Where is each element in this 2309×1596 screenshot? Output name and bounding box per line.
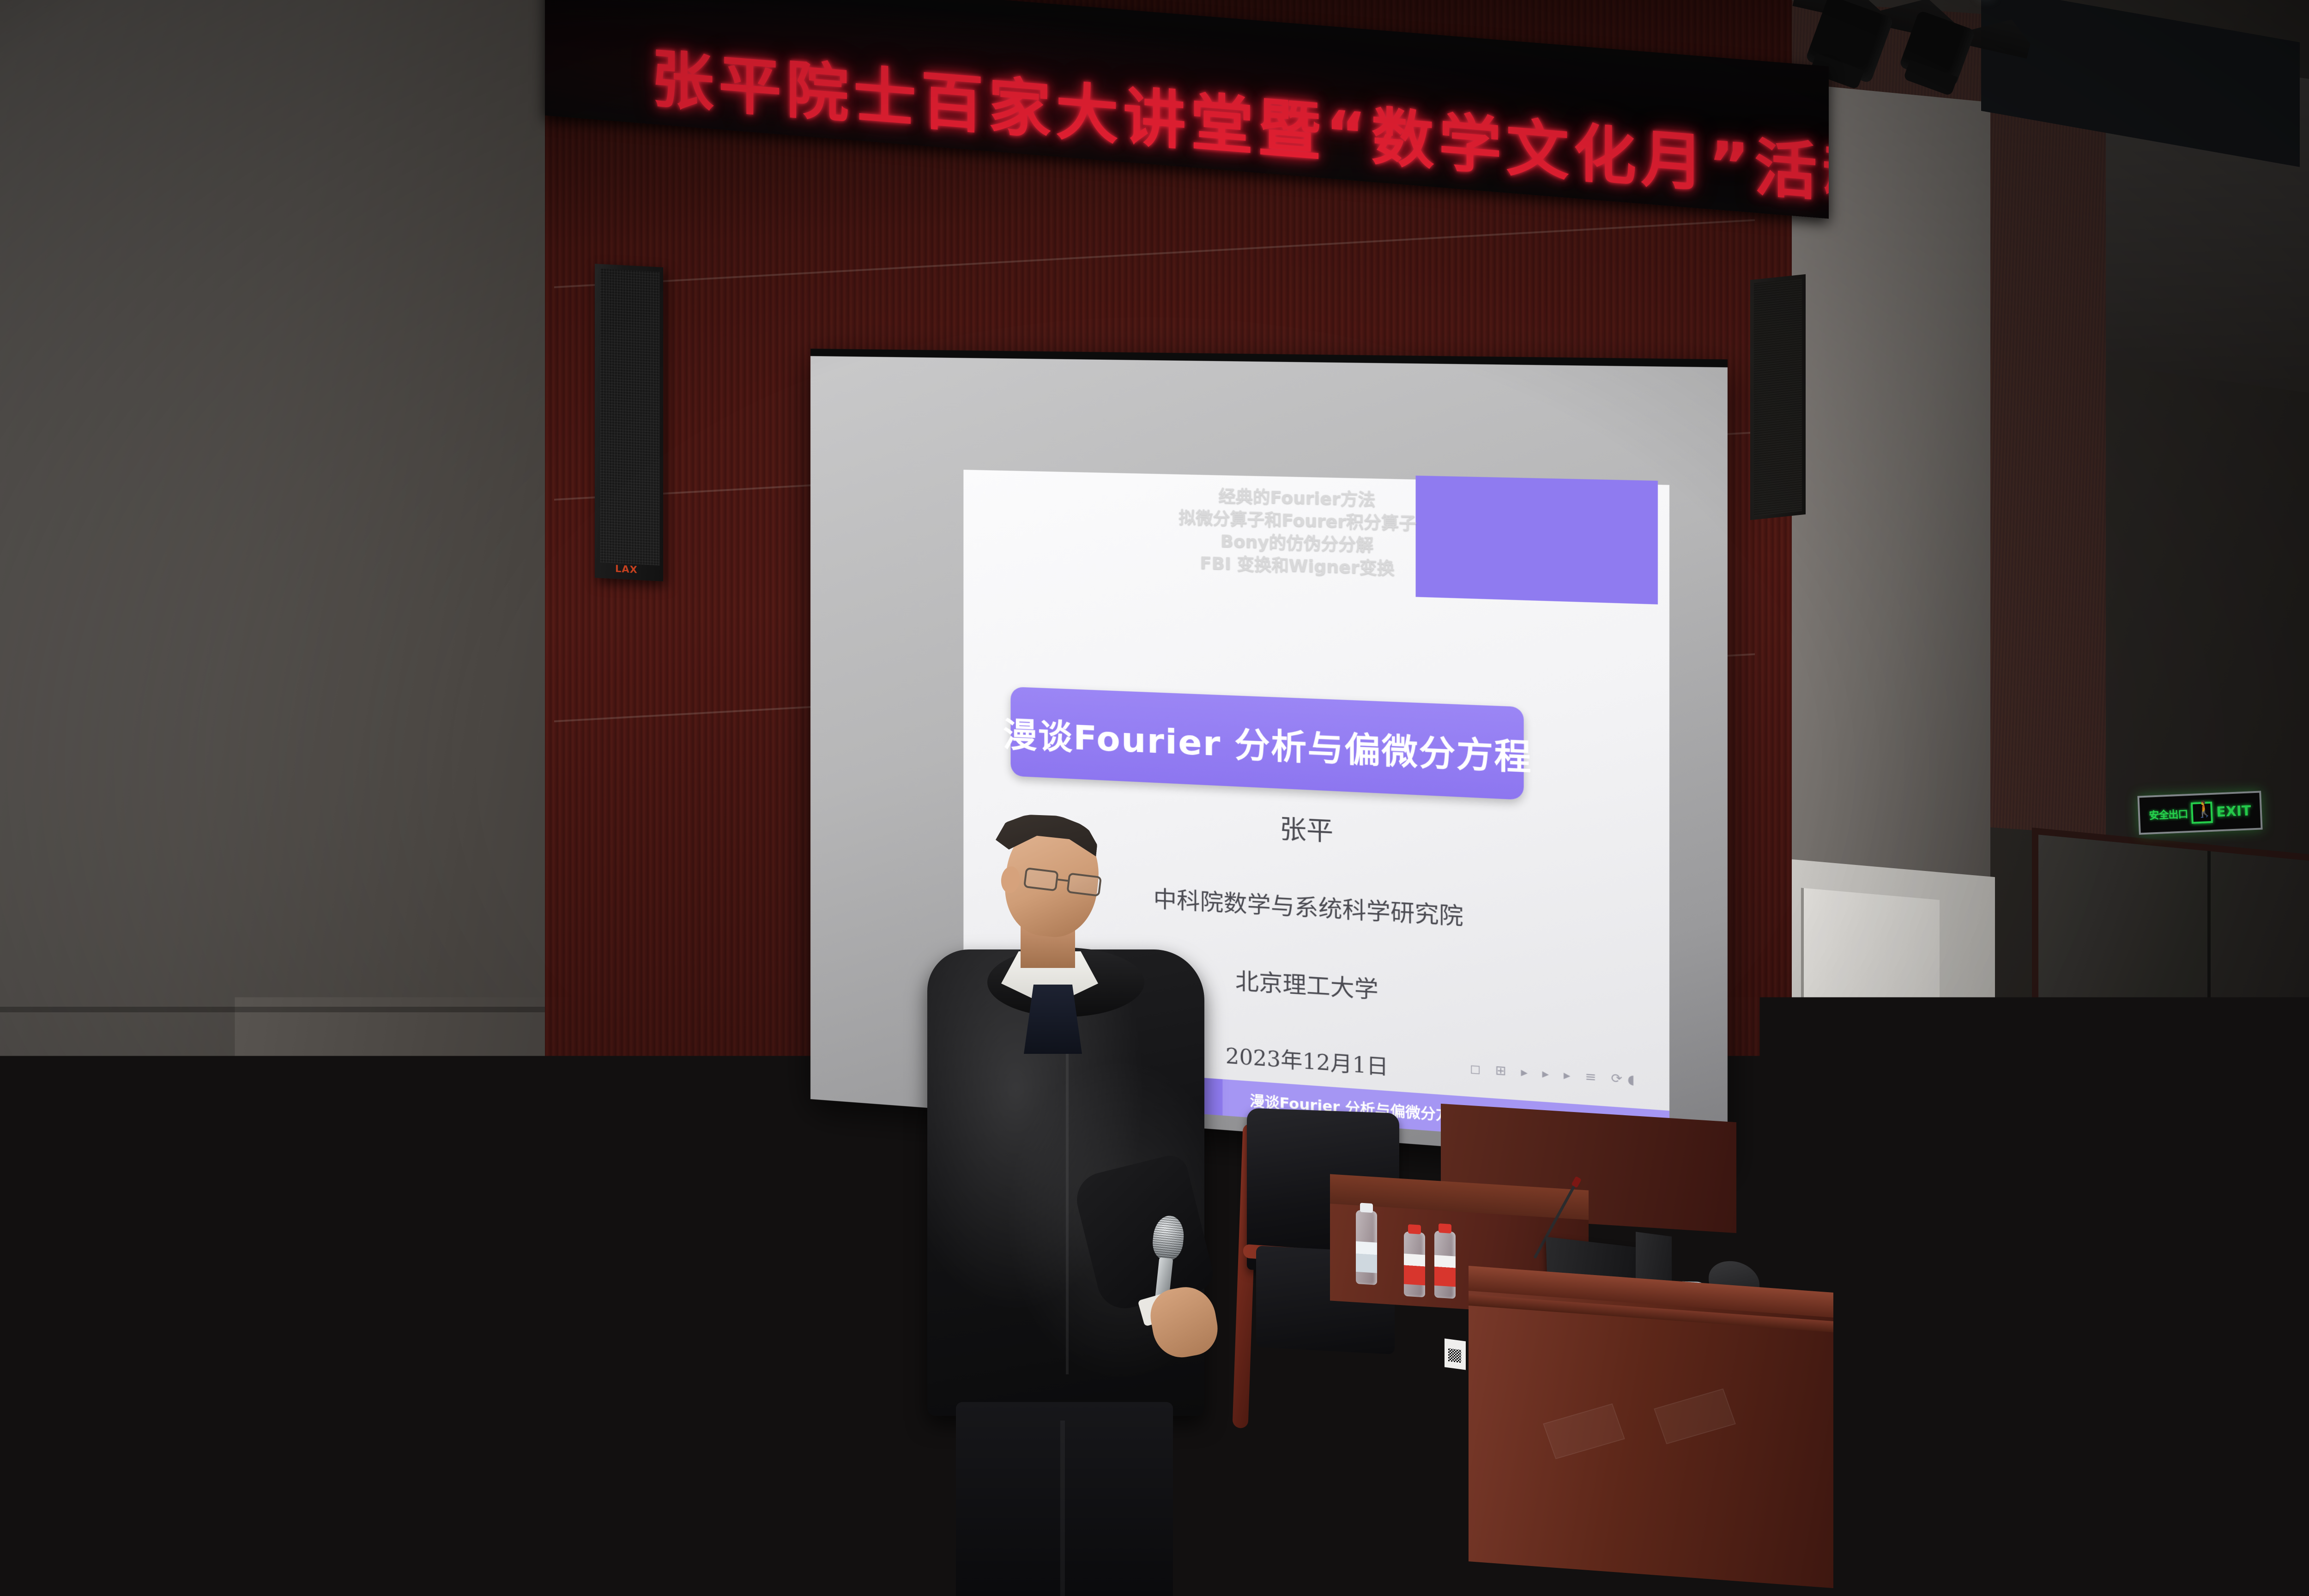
- desk-ornament: [1654, 1389, 1736, 1445]
- lecture-hall-photo: 张平院士百家大讲堂暨“数学文化月”活动 LAX 经典的Fourier方法 拟微分…: [0, 0, 2309, 1596]
- right-line-array-speaker: [1750, 274, 1806, 520]
- glasses-lens: [1066, 872, 1102, 896]
- door-split: [2207, 851, 2211, 1367]
- bottle-label: [1404, 1253, 1425, 1285]
- trousers: [956, 1402, 1173, 1596]
- slide-title-bar: 漫谈Fourier 分析与偏微分方程: [1010, 687, 1523, 800]
- bottle-cap: [1360, 1203, 1373, 1213]
- io-port-label: [750, 1357, 762, 1363]
- exit-sign-english: EXIT: [2216, 803, 2252, 820]
- water-bottle[interactable]: [1434, 1231, 1456, 1299]
- io-port-label: [709, 1354, 721, 1360]
- io-port-icon[interactable]: [751, 1348, 758, 1355]
- qr-asset-tag: [1445, 1338, 1466, 1370]
- jacket-zipper: [1066, 1005, 1069, 1374]
- presenter: [905, 813, 1228, 1596]
- glasses-lens: [1023, 867, 1059, 891]
- slide-title: 漫谈Fourier 分析与偏微分方程: [1003, 707, 1532, 780]
- door-handle-icon[interactable]: [2193, 1067, 2201, 1094]
- door-handle-icon[interactable]: [1904, 1118, 1926, 1128]
- speaker-grille: [1754, 278, 1802, 516]
- speaker-brand-label: LAX: [615, 563, 638, 575]
- bottle-cap: [1439, 1223, 1451, 1233]
- desk-ornament: [1543, 1403, 1625, 1459]
- running-person-icon: [2191, 802, 2213, 824]
- university-emblem: 北京理工大学 1940 BEIJING INSTITUTE OF TECHNOL…: [240, 1467, 439, 1596]
- emergency-exit-sign: 安全出口 EXIT: [2137, 791, 2262, 834]
- bottle-label: [1434, 1255, 1456, 1287]
- glasses-bridge: [1058, 879, 1068, 882]
- door-handle-icon[interactable]: [2225, 1070, 2233, 1097]
- presenter-desk: [1330, 1173, 1833, 1596]
- desk-front-panel: [1469, 1266, 1833, 1588]
- podium: 北京理工大学 1940 BEIJING INSTITUTE OF TECHNOL…: [14, 1191, 623, 1596]
- water-bottle[interactable]: [1356, 1210, 1377, 1285]
- exit-sign-chinese: 安全出口: [2149, 806, 2188, 822]
- bottle-cap: [1408, 1224, 1421, 1234]
- speaker-grille: [600, 269, 659, 566]
- io-port-label: [728, 1355, 740, 1361]
- left-line-array-speaker: LAX: [595, 264, 663, 581]
- slide-toc-list: 经典的Fourier方法 拟微分算子和Fourer积分算子 Bony的仿伪分分解…: [1120, 484, 1477, 583]
- water-bottle[interactable]: [1404, 1231, 1425, 1297]
- double-exit-door[interactable]: [2032, 828, 2309, 1384]
- power-socket-icon[interactable]: [786, 1346, 805, 1364]
- qr-code-icon: [1448, 1348, 1461, 1363]
- bottle-label: [1356, 1241, 1377, 1273]
- microphone-head: [1151, 1214, 1186, 1261]
